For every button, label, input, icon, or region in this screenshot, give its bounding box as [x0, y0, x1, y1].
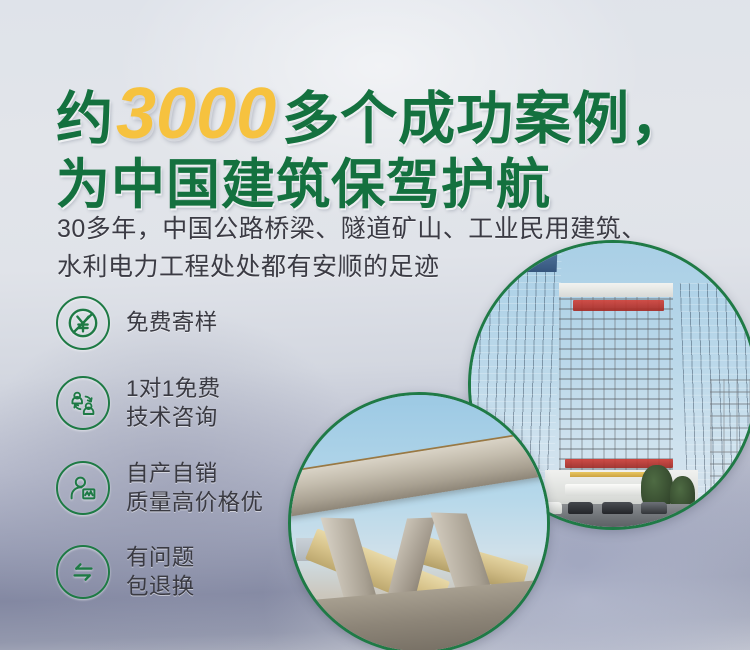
exchange-arrows-icon	[56, 545, 110, 599]
feature-label-return-exchange: 有问题 包退换	[126, 543, 195, 602]
feature-item-consultation[interactable]: 1对1免费 技术咨询	[56, 374, 316, 433]
car	[568, 502, 594, 514]
headline-line-1: 约3000多个成功案例，	[56, 78, 716, 150]
headline-line-2: 为中国建筑保驾护航	[56, 158, 716, 212]
bridge-scene	[291, 395, 547, 650]
feature-item-free-sample[interactable]: 免费寄样	[56, 296, 316, 350]
bridge-photo	[288, 392, 550, 650]
feature-item-quality[interactable]: 自产自销 质量高价格优	[56, 459, 316, 518]
promo-banner: 约3000多个成功案例， 为中国建筑保驾护航 30多年，中国公路桥梁、隧道矿山、…	[0, 0, 750, 650]
tower-left-cap	[471, 249, 557, 272]
feature-label-free-sample: 免费寄样	[126, 308, 218, 337]
person-quality-chart-icon	[56, 461, 110, 515]
feature-label-consultation: 1对1免费 技术咨询	[126, 374, 221, 433]
feature-item-return-exchange[interactable]: 有问题 包退换	[56, 543, 316, 602]
headline-prefix: 约	[56, 87, 114, 151]
rooftop-sign	[573, 300, 664, 311]
two-person-consult-icon	[56, 376, 110, 430]
feature-label-quality: 自产自销 质量高价格优	[126, 459, 263, 518]
car	[641, 502, 667, 514]
feature-list: 免费寄样 1对1免费 技术咨询	[56, 296, 316, 624]
headline-number: 3000	[114, 74, 282, 154]
no-fee-yuan-icon	[56, 296, 110, 350]
headline-suffix: 多个成功案例，	[282, 87, 688, 151]
tower-middle-cap	[559, 283, 673, 297]
car	[602, 502, 633, 514]
headline: 约3000多个成功案例， 为中国建筑保驾护航	[56, 78, 716, 212]
